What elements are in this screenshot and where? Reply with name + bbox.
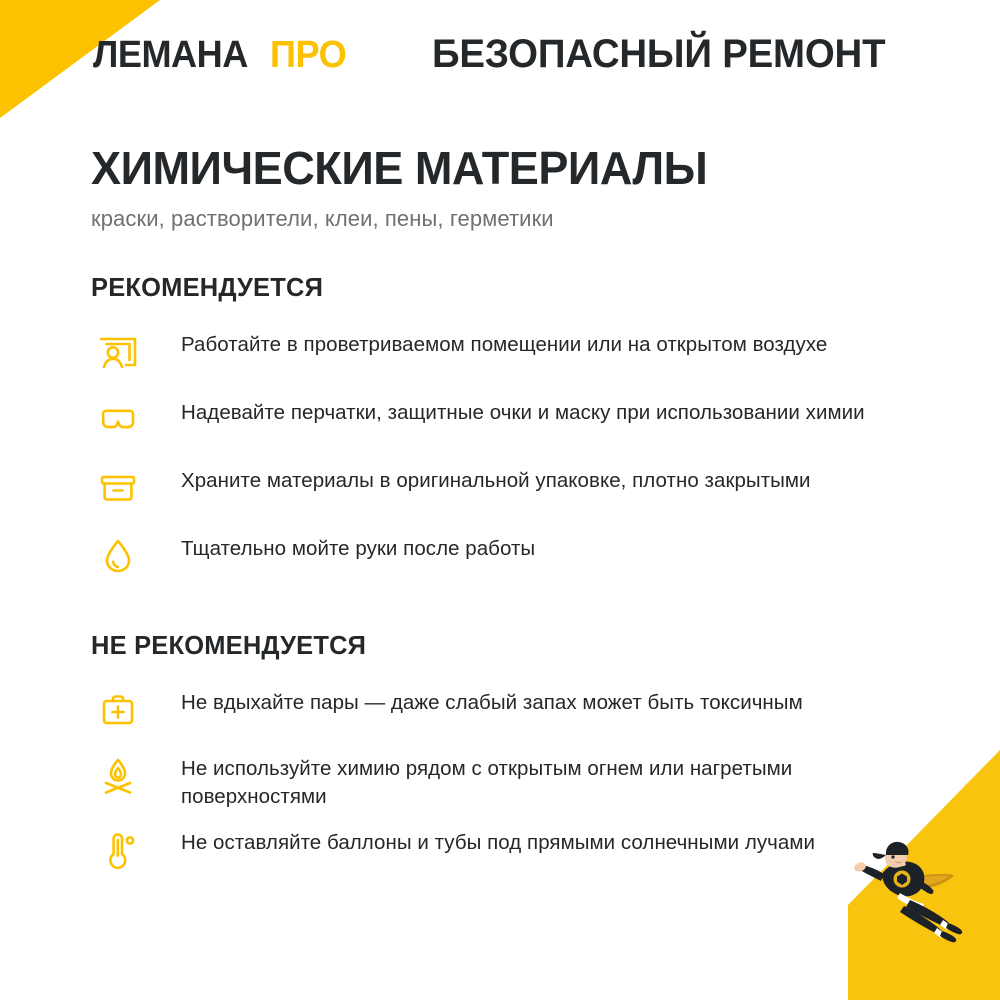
tip-item: Не используйте химию рядом с открытым ог… [91,749,951,811]
tip-text: Тщательно мойте руки после работы [181,529,535,563]
tip-item: Храните материалы в оригинальной упаковк… [91,461,951,515]
tip-text: Храните материалы в оригинальной упаковк… [181,461,811,495]
tip-text: Не используйте химию рядом с открытым ог… [181,749,901,811]
page-header: ЛЕМАНА ПРО БЕЗОПАСНЫЙ РЕМОНТ [0,34,1000,90]
logo-text-pro: ПРО [270,34,346,77]
tip-text: Надевайте перчатки, защитные очки и маск… [181,393,865,427]
infographic-page: ЛЕМАНА ПРО БЕЗОПАСНЫЙ РЕМОНТ ХИМИЧЕСКИЕ … [0,0,1000,1000]
brand-logo: ЛЕМАНА ПРО [93,34,350,90]
tip-item: Не вдыхайте пары — даже слабый запах мож… [91,683,951,737]
section-not-recommended: НЕ РЕКОМЕНДУЕТСЯ Не вдыхайте пары — даже… [91,630,951,877]
tip-text: Не оставляйте баллоны и тубы под прямыми… [181,823,815,857]
tip-item: Тщательно мойте руки после работы [91,529,951,583]
safety-goggles-icon [91,393,145,447]
title-block: ХИМИЧЕСКИЕ МАТЕРИАЛЫ краски, растворител… [91,145,921,232]
first-aid-kit-icon [91,683,145,737]
header-campaign-title: БЕЗОПАСНЫЙ РЕМОНТ [432,32,885,77]
not-recommended-tip-list: Не вдыхайте пары — даже слабый запах мож… [91,683,951,877]
water-droplet-icon [91,529,145,583]
tip-item: Не оставляйте баллоны и тубы под прямыми… [91,823,951,877]
section-heading-not-recommended: НЕ РЕКОМЕНДУЕТСЯ [91,630,934,661]
campfire-flame-icon [91,749,145,803]
recommended-tip-list: Работайте в проветриваемом помещении или… [91,325,951,583]
tip-item: Работайте в проветриваемом помещении или… [91,325,951,379]
open-window-ventilation-icon [91,325,145,379]
section-recommended: РЕКОМЕНДУЕТСЯ Работайте в проветриваемом… [91,272,951,583]
tip-text: Не вдыхайте пары — даже слабый запах мож… [181,683,803,717]
storage-box-icon [91,461,145,515]
logo-text-lemana: ЛЕМАНА [93,34,248,77]
page-subtitle: краски, растворители, клеи, пены, гермет… [91,206,921,232]
tip-text: Работайте в проветриваемом помещении или… [181,325,827,359]
tip-item: Надевайте перчатки, защитные очки и маск… [91,393,951,447]
thermometer-icon [91,823,145,877]
flying-superhero-mascot [838,834,978,954]
page-title: ХИМИЧЕСКИЕ МАТЕРИАЛЫ [91,145,904,192]
section-heading-recommended: РЕКОМЕНДУЕТСЯ [91,272,934,303]
